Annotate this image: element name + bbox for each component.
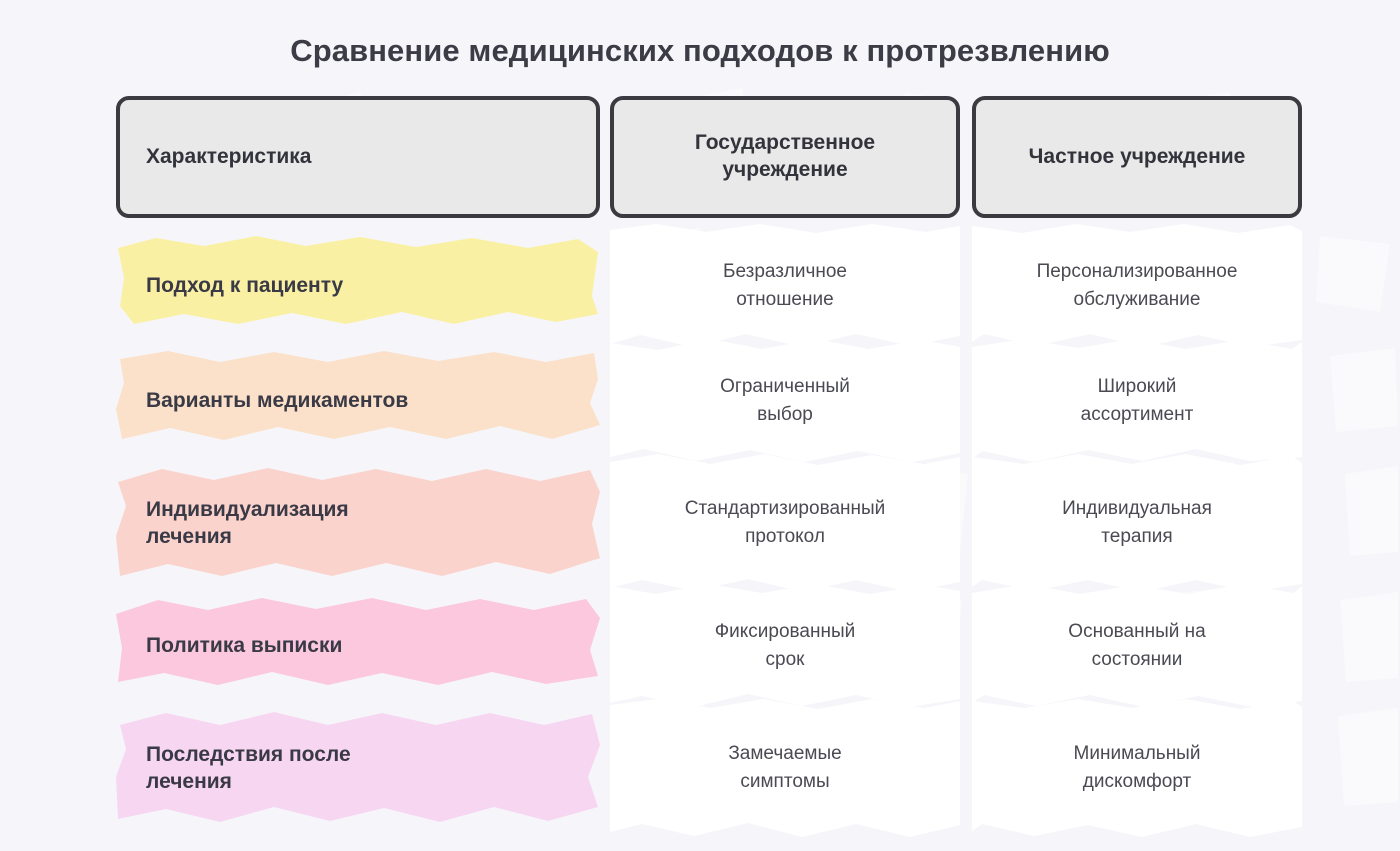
value-text: Широкий ассортимент — [1081, 373, 1194, 428]
header-label-private: Частное учреждение — [972, 96, 1302, 218]
header-cell-public: Государственное учреждение — [610, 96, 960, 218]
value-text: Безразличное отношение — [723, 258, 847, 313]
header-cell-feature: Характеристика — [116, 96, 600, 218]
value-cell-private: Персонализированное обслуживание — [972, 228, 1302, 343]
table-row: Последствия после лечения Замечаемые сим… — [116, 703, 1288, 833]
feature-cell: Политика выписки — [116, 588, 600, 703]
feature-label: Индивидуализация лечения — [116, 458, 600, 588]
column-gap — [960, 588, 972, 703]
header-label-public: Государственное учреждение — [610, 96, 960, 218]
value-cell-inner: Стандартизированный протокол — [610, 458, 960, 588]
value-text: Замечаемые симптомы — [728, 740, 841, 795]
value-cell-private: Широкий ассортимент — [972, 343, 1302, 458]
value-text: Минимальный дискомфорт — [1074, 740, 1201, 795]
value-cell-inner: Фиксированный срок — [610, 588, 960, 703]
value-cell-inner: Ограниченный выбор — [610, 343, 960, 458]
feature-label: Подход к пациенту — [116, 228, 600, 343]
table-row: Подход к пациенту Безразличное отношение… — [116, 228, 1288, 343]
feature-cell: Варианты медикаментов — [116, 343, 600, 458]
column-gap — [600, 588, 610, 703]
value-text: Индивидуальная терапия — [1062, 495, 1212, 550]
header-label-feature: Характеристика — [116, 96, 600, 218]
value-text: Фиксированный срок — [715, 618, 856, 673]
value-cell-inner: Основанный на состоянии — [972, 588, 1302, 703]
value-cell-private: Индивидуальная терапия — [972, 458, 1302, 588]
table-row: Политика выписки Фиксированный срок Осно… — [116, 588, 1288, 703]
value-cell-private: Минимальный дискомфорт — [972, 703, 1302, 833]
column-gap — [960, 703, 972, 833]
column-gap — [960, 458, 972, 588]
feature-cell: Последствия после лечения — [116, 703, 600, 833]
value-cell-inner: Индивидуальная терапия — [972, 458, 1302, 588]
page-title: Сравнение медицинских подходов к протрез… — [0, 33, 1400, 69]
column-gap — [600, 228, 610, 343]
value-text: Персонализированное обслуживание — [1037, 258, 1238, 313]
feature-label: Последствия после лечения — [116, 703, 600, 833]
column-gap — [600, 458, 610, 588]
feature-cell: Индивидуализация лечения — [116, 458, 600, 588]
column-gap — [600, 343, 610, 458]
value-cell-public: Фиксированный срок — [610, 588, 960, 703]
value-cell-public: Стандартизированный протокол — [610, 458, 960, 588]
feature-label: Варианты медикаментов — [116, 343, 600, 458]
column-gap — [960, 228, 972, 343]
table-row: Индивидуализация лечения Стандартизирова… — [116, 458, 1288, 588]
value-cell-public: Замечаемые симптомы — [610, 703, 960, 833]
column-gap — [960, 96, 972, 218]
value-text: Стандартизированный протокол — [685, 495, 886, 550]
column-gap — [960, 343, 972, 458]
table-header-row: Характеристика Государственное учреждени… — [116, 96, 1288, 218]
table-row: Варианты медикаментов Ограниченный выбор… — [116, 343, 1288, 458]
value-text: Основанный на состоянии — [1068, 618, 1205, 673]
value-cell-private: Основанный на состоянии — [972, 588, 1302, 703]
header-cell-private: Частное учреждение — [972, 96, 1302, 218]
value-cell-inner: Персонализированное обслуживание — [972, 228, 1302, 343]
feature-cell: Подход к пациенту — [116, 228, 600, 343]
value-cell-inner: Замечаемые симптомы — [610, 703, 960, 833]
comparison-table: Характеристика Государственное учреждени… — [116, 96, 1288, 833]
value-cell-public: Ограниченный выбор — [610, 343, 960, 458]
value-cell-public: Безразличное отношение — [610, 228, 960, 343]
value-cell-inner: Минимальный дискомфорт — [972, 703, 1302, 833]
value-text: Ограниченный выбор — [720, 373, 850, 428]
value-cell-inner: Широкий ассортимент — [972, 343, 1302, 458]
value-cell-inner: Безразличное отношение — [610, 228, 960, 343]
column-gap — [600, 703, 610, 833]
feature-label: Политика выписки — [116, 588, 600, 703]
column-gap — [600, 96, 610, 218]
